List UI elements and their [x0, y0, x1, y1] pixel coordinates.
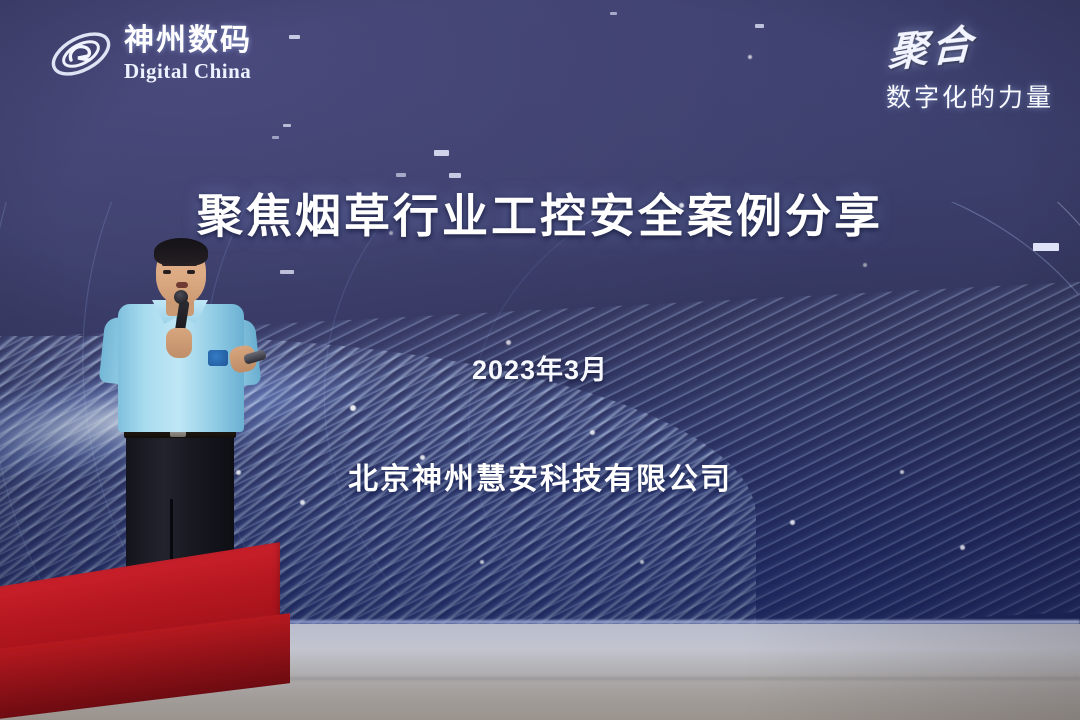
foreground-table: [0, 530, 290, 720]
particle-dash: [610, 12, 617, 15]
particle-dot: [480, 560, 484, 564]
speaker-brow-right: [186, 263, 197, 266]
speaker-hair: [154, 238, 208, 266]
particle-dot: [590, 430, 595, 435]
logo-name-en: Digital China: [124, 61, 252, 82]
logo-wordmark: 神州数码 Digital China: [124, 26, 252, 82]
slogan-brush-text: 聚合: [885, 11, 977, 79]
speaker-eye-left: [163, 270, 171, 274]
particle-dot: [300, 500, 305, 505]
particle-dash: [396, 173, 406, 177]
particle-dash: [283, 124, 291, 127]
stage-floor-shadow: [740, 624, 1080, 720]
speaker-chest-logo: [208, 350, 228, 366]
slogan-subtitle: 数字化的力量: [886, 78, 1054, 114]
particle-dash: [755, 24, 764, 28]
conference-photo: 神州数码 Digital China 聚合 数字化的力量 聚焦烟草行业工控安全案…: [0, 0, 1080, 720]
particle-dash: [434, 150, 449, 156]
particle-dot: [960, 545, 965, 550]
logo-name-cn: 神州数码: [124, 26, 252, 56]
digital-china-swirl-logo-icon: [48, 24, 114, 84]
particle-dot: [748, 55, 752, 59]
particle-dot: [863, 263, 867, 267]
speaker-eye-right: [187, 270, 195, 274]
speaker-brow-left: [162, 263, 173, 266]
speaker-mouth: [176, 282, 188, 288]
particle-dot: [640, 560, 644, 564]
event-slogan: 聚合 数字化的力量: [886, 16, 1054, 114]
particle-dot: [350, 405, 356, 411]
particle-dash: [272, 136, 279, 139]
particle-dash: [449, 173, 461, 178]
particle-dot: [506, 340, 511, 345]
speaker-hand-holding-mic: [166, 328, 192, 358]
particle-dash: [289, 35, 300, 39]
digital-china-logo: 神州数码 Digital China: [48, 24, 252, 84]
particle-dot: [790, 520, 795, 525]
